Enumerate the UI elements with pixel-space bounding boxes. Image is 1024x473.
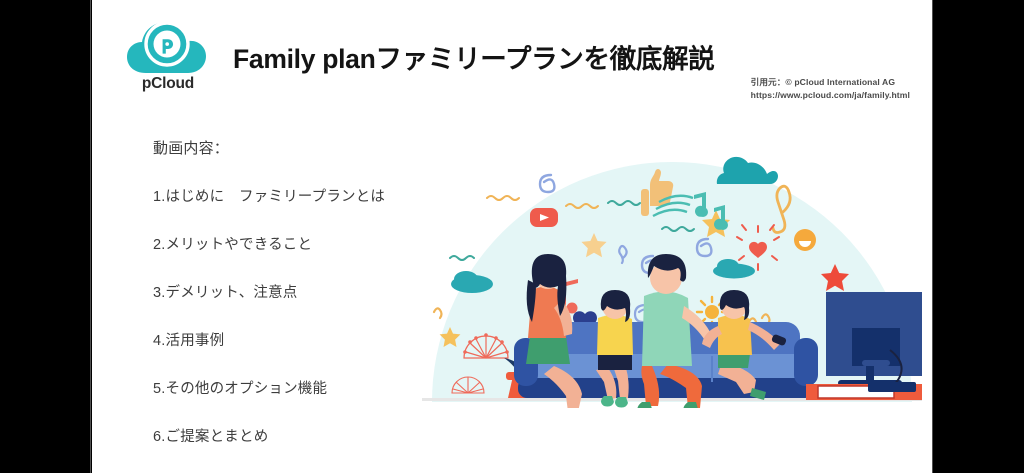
agenda-list: 動画内容： 1.はじめに ファミリープランとは 2.メリットやできること 3.デ… bbox=[153, 137, 453, 446]
smiley-emoji-icon bbox=[794, 229, 816, 251]
letterbox-bar-right bbox=[932, 0, 1024, 473]
video-frame: pCloud Family planファミリープランを徹底解説 引用元：© pC… bbox=[0, 0, 1024, 473]
list-item: 3.デメリット、注意点 bbox=[153, 281, 453, 302]
pcloud-logo: pCloud bbox=[126, 17, 210, 101]
spiral-icon bbox=[540, 175, 554, 192]
brand-name: pCloud bbox=[126, 75, 210, 93]
tv-stand bbox=[806, 382, 922, 400]
agenda-heading: 動画内容： bbox=[153, 137, 453, 158]
list-item: 2.メリットやできること bbox=[153, 233, 453, 254]
attribution: 引用元：© pCloud International AG https://ww… bbox=[751, 76, 910, 103]
television bbox=[826, 292, 922, 388]
list-item: 1.はじめに ファミリープランとは bbox=[153, 185, 453, 206]
list-item: 4.活用事例 bbox=[153, 329, 453, 350]
family-watching-tv-illustration bbox=[422, 140, 922, 408]
letterbox-bar-left bbox=[0, 0, 91, 473]
list-item: 5.その他のオプション機能 bbox=[153, 377, 453, 398]
attribution-source: 引用元：© pCloud International AG bbox=[751, 76, 910, 89]
slide-canvas: pCloud Family planファミリープランを徹底解説 引用元：© pC… bbox=[92, 0, 932, 473]
page-title: Family planファミリープランを徹底解説 bbox=[233, 37, 715, 76]
list-item: 6.ご提案とまとめ bbox=[153, 425, 453, 446]
attribution-url: https://www.pcloud.com/ja/family.html bbox=[751, 89, 910, 102]
cloud-icon bbox=[717, 157, 778, 184]
pcloud-cloud-logo-icon bbox=[126, 17, 210, 75]
youtube-play-icon bbox=[530, 208, 558, 227]
